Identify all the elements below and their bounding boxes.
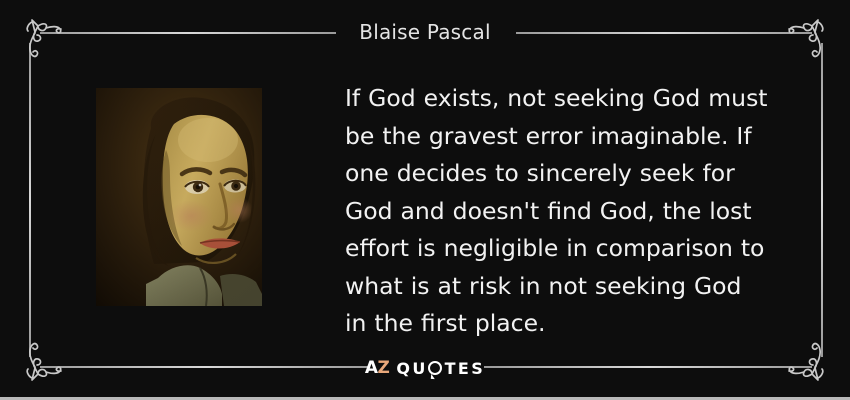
logo-letter-z: Z [377, 358, 389, 378]
author-name: Blaise Pascal [0, 18, 850, 46]
frame-line-right [821, 43, 823, 357]
logo-az-wordmark: AZ [365, 358, 390, 378]
logo-quotes-wordmark: QUTES [396, 359, 485, 378]
azquotes-logo[interactable]: AZ QUTES [0, 357, 850, 379]
logo-quotes-part2: TES [445, 359, 486, 378]
quote-text: If God exists, not seeking God must be t… [345, 80, 769, 343]
logo-letter-a: A [365, 358, 378, 378]
speech-bubble-icon [428, 361, 442, 375]
logo-quotes-part1: QU [396, 359, 427, 378]
quote-card: Blaise Pascal [0, 0, 850, 400]
author-portrait [96, 88, 262, 306]
frame-line-left [29, 43, 31, 357]
